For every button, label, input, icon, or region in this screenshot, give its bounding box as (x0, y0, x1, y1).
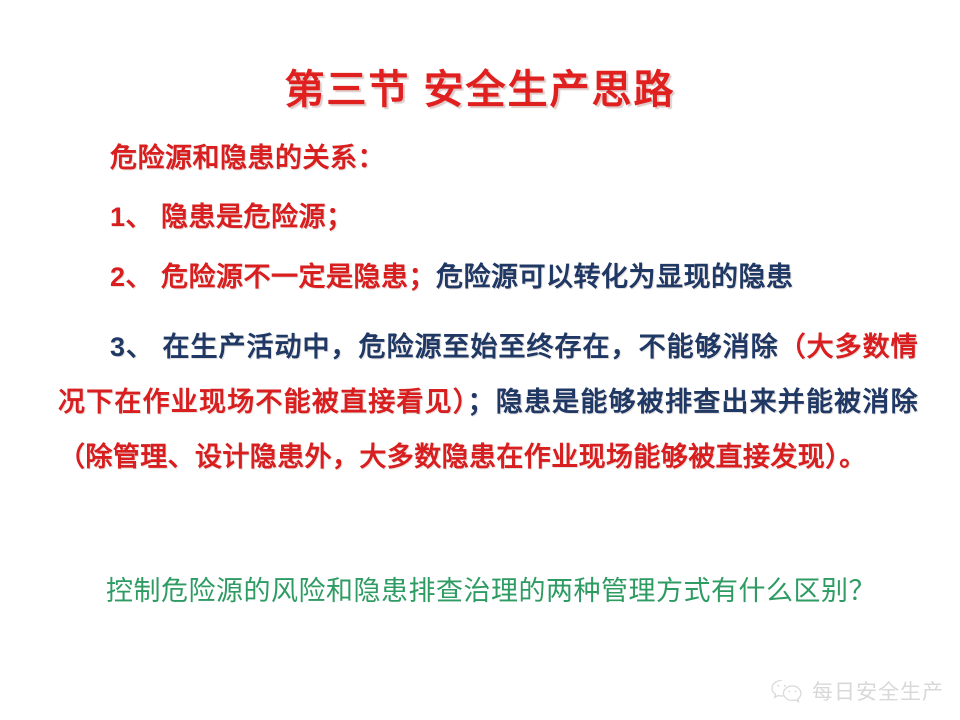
slide-canvas: 第三节 安全生产思路 危险源和隐患的关系： 1、 隐患是危险源； 2、 危险源不… (0, 0, 960, 720)
question-paragraph: 控制危险源的风险和隐患排查治理的两种管理方式有什么区别？ (50, 565, 922, 617)
wechat-icon (770, 678, 804, 704)
list-item-3-segment-3: ；隐患是能够被排查出来并能被消除 (468, 387, 918, 417)
relationship-heading: 危险源和隐患的关系： (110, 145, 918, 172)
list-item-2-red-part: 2、 危险源不一定是隐患； (110, 262, 436, 292)
list-item-3: 3、 在生产活动中，危险源至始至终存在，不能够消除（大多数情况下在作业现场不能被… (58, 320, 918, 485)
list-item-2: 2、 危险源不一定是隐患；危险源可以转化为显现的隐患 (110, 264, 918, 291)
list-item-1: 1、 隐患是危险源； (110, 204, 918, 231)
page-title: 第三节 安全生产思路 (0, 57, 960, 115)
body-content: 危险源和隐患的关系： 1、 隐患是危险源； 2、 危险源不一定是隐患；危险源可以… (58, 145, 918, 485)
list-item-3-segment-4: （除管理、设计隐患外，大多数隐患在作业现场能够被直接发现）。 (58, 442, 867, 472)
watermark-label: 每日安全生产 (812, 676, 944, 706)
list-item-3-segment-1: 3、 在生产活动中，危险源至始至终存在，不能够消除 (110, 332, 779, 362)
list-item-2-navy-part: 危险源可以转化为显现的隐患 (436, 262, 794, 292)
watermark: 每日安全生产 (770, 676, 944, 706)
